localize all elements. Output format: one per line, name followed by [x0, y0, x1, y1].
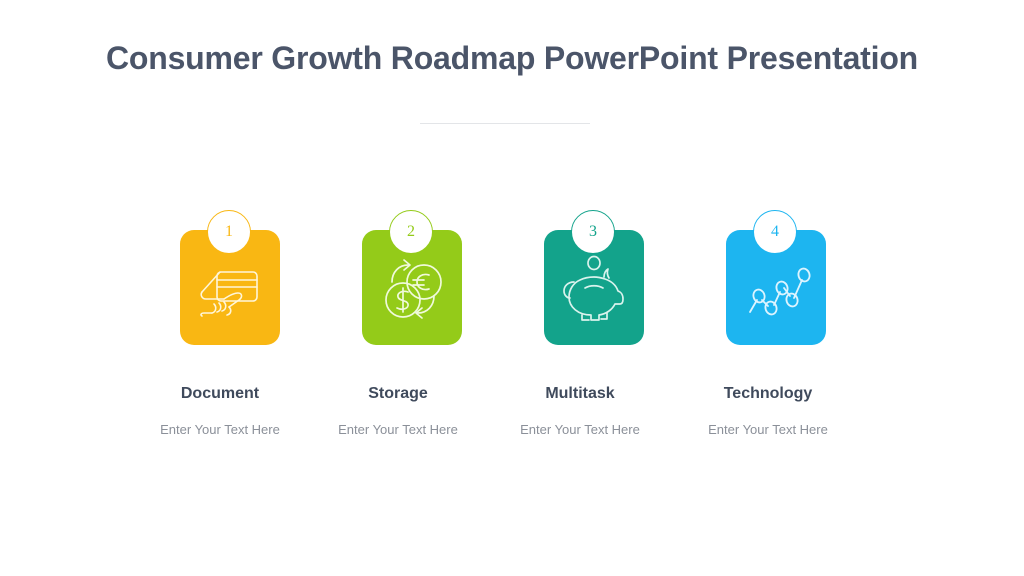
card-2[interactable]: 2: [342, 210, 482, 355]
card-badge-label-4: 4: [771, 223, 779, 241]
card-title-4: Technology: [721, 384, 815, 403]
card-subtitle-2: Enter Your Text Here: [308, 422, 488, 438]
card-badge-2: 2: [389, 210, 433, 254]
card-1[interactable]: 1: [160, 210, 300, 355]
labels-row: Document Enter Your Text Here Storage En…: [0, 384, 1024, 444]
card-subtitle-1: Enter Your Text Here: [130, 422, 310, 438]
card-badge-3: 3: [571, 210, 615, 254]
card-title-3: Multitask: [533, 384, 627, 403]
cards-row: 1 2: [0, 210, 1024, 355]
card-title-1: Document: [130, 384, 310, 403]
card-subtitle-4: Enter Your Text Here: [678, 422, 858, 438]
card-badge-label-3: 3: [589, 223, 597, 241]
card-badge-1: 1: [207, 210, 251, 254]
title-divider: [420, 123, 590, 124]
label-block-3: Multitask Enter Your Text Here: [490, 384, 670, 444]
page-title: Consumer Growth Roadmap PowerPoint Prese…: [0, 40, 1024, 77]
card-4[interactable]: 4: [706, 210, 846, 355]
card-badge-label-1: 1: [225, 223, 233, 241]
card-badge-4: 4: [753, 210, 797, 254]
card-badge-label-2: 2: [407, 223, 415, 241]
card-3[interactable]: 3: [524, 210, 664, 355]
label-block-4: Technology Enter Your Text Here: [678, 384, 858, 444]
card-subtitle-3: Enter Your Text Here: [490, 422, 670, 438]
label-block-1: Document Enter Your Text Here: [130, 384, 310, 444]
label-block-2: Storage Enter Your Text Here: [308, 384, 488, 444]
card-title-2: Storage: [308, 384, 488, 403]
